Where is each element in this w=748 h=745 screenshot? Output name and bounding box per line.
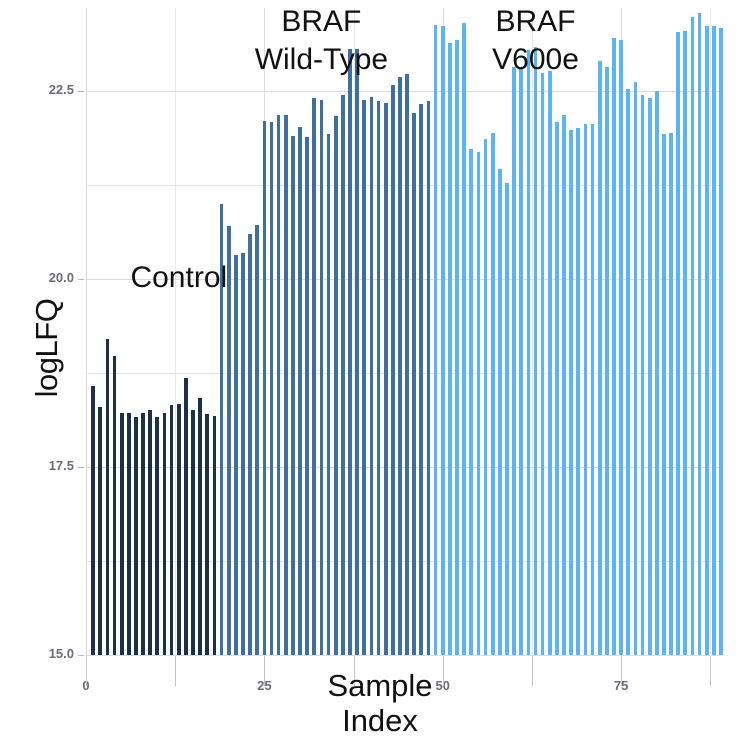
bar [120, 413, 124, 655]
gridline-y-15 [86, 655, 721, 656]
bar [284, 115, 288, 655]
y-tick-label: 22.5 [18, 82, 74, 97]
y-tick-label: 15.0 [18, 646, 74, 661]
bar [576, 128, 580, 655]
bar [277, 115, 281, 655]
bar [534, 47, 538, 655]
bar [191, 410, 195, 655]
bar [370, 97, 374, 655]
bar [184, 378, 188, 655]
x-axis-title: Sample Index [300, 668, 460, 738]
bar [462, 23, 466, 655]
bar [248, 234, 252, 655]
bar [548, 71, 552, 655]
x-tick-mark [532, 656, 533, 686]
bar [655, 91, 659, 655]
bar [384, 103, 388, 655]
bar [555, 122, 559, 655]
bar [648, 98, 652, 655]
bar [541, 73, 545, 655]
x-tick-mark [264, 656, 265, 686]
bar [205, 414, 209, 655]
bar [405, 74, 409, 655]
bar [712, 26, 716, 655]
bar [106, 339, 110, 655]
bar [683, 31, 687, 655]
bar [234, 255, 238, 655]
bar [669, 133, 673, 655]
x-tick-mark [710, 656, 711, 686]
chart-figure: logLFQ 15.017.520.022.5 0255075 ControlB… [0, 0, 748, 745]
bar [569, 130, 573, 655]
bar [412, 113, 416, 655]
bar [441, 26, 445, 655]
y-tick-label: 17.5 [18, 458, 74, 473]
bar [398, 77, 402, 655]
plot-panel: ControlBRAF Wild-TypeBRAF V600e [86, 8, 721, 655]
bar [355, 49, 359, 655]
bar [591, 124, 595, 655]
bar [213, 416, 217, 655]
bar [305, 137, 309, 655]
bar [177, 404, 181, 655]
bar [455, 40, 459, 655]
bar [348, 49, 352, 655]
bar [91, 386, 95, 655]
bar [291, 136, 295, 655]
bar [263, 121, 267, 655]
bar [491, 133, 495, 655]
bar [676, 32, 680, 655]
bar [377, 101, 381, 655]
bar [662, 134, 666, 655]
bar [498, 169, 502, 655]
x-tick-mark [86, 656, 87, 686]
bar [148, 410, 152, 655]
x-tick-mark [621, 656, 622, 686]
bar [619, 40, 623, 655]
gridline-x-0 [86, 8, 87, 655]
bar [134, 417, 138, 655]
bar [312, 98, 316, 655]
bar [584, 124, 588, 655]
bar [141, 413, 145, 655]
bar [427, 101, 431, 655]
bar [113, 356, 117, 655]
bar [519, 68, 523, 655]
y-tick-mark [78, 655, 84, 656]
bar [170, 405, 174, 655]
bar [512, 67, 516, 655]
bar [127, 413, 131, 655]
bar [327, 134, 331, 655]
bar [419, 104, 423, 655]
bar [320, 100, 324, 655]
bar [691, 17, 695, 655]
bar [163, 413, 167, 655]
bar [605, 67, 609, 655]
y-tick-mark [78, 467, 84, 468]
bar [298, 127, 302, 655]
group-label-braf: BRAF Wild-Type [221, 3, 421, 79]
bar [505, 183, 509, 655]
x-axis-title-line2: Index [300, 703, 460, 738]
y-tick-label: 20.0 [18, 270, 74, 285]
bar [477, 152, 481, 655]
x-tick-mark [175, 656, 176, 686]
bar [98, 407, 102, 655]
bar [198, 398, 202, 655]
bar [362, 100, 366, 655]
group-label-control: Control [79, 259, 279, 297]
bar [527, 50, 531, 655]
bar [155, 417, 159, 655]
bar [705, 26, 709, 655]
bar [484, 139, 488, 655]
y-axis-title: logLFQ [29, 273, 65, 423]
group-label-braf: BRAF V600e [436, 3, 636, 79]
bar [698, 13, 702, 655]
bar [434, 25, 438, 655]
bar [241, 253, 245, 655]
bar [391, 85, 395, 655]
bar [270, 122, 274, 655]
bar [612, 38, 616, 655]
bar [562, 115, 566, 655]
x-axis-title-line1: Sample [327, 668, 432, 703]
bar [341, 95, 345, 655]
bar [634, 82, 638, 655]
bar [598, 61, 602, 655]
bar [469, 149, 473, 655]
bar [641, 95, 645, 655]
bar [334, 116, 338, 655]
bar [626, 89, 630, 655]
y-tick-mark [78, 91, 84, 92]
bar [719, 28, 723, 655]
bar [448, 43, 452, 655]
